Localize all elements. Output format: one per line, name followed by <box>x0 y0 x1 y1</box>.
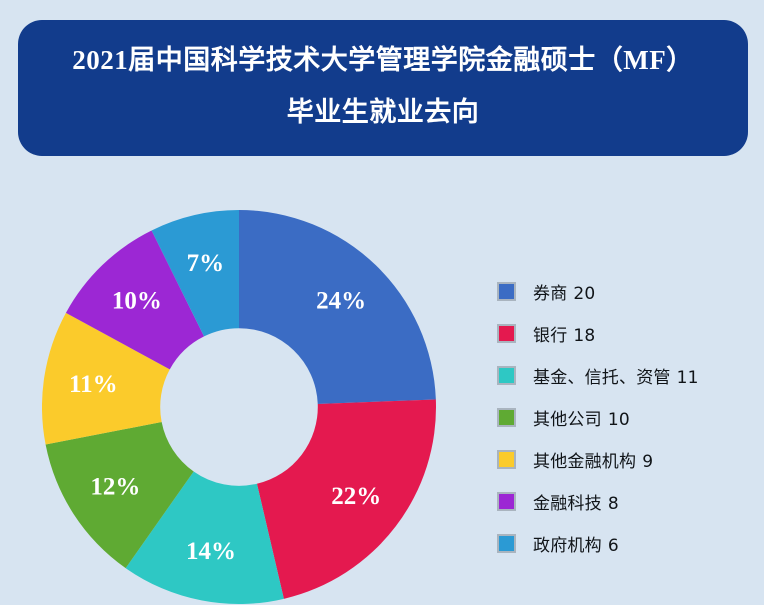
donut-slice-label-2: 22% <box>331 483 381 510</box>
legend-item-6[interactable]: 金融科技8 <box>497 480 752 522</box>
legend-count-4: 10 <box>608 410 630 430</box>
legend-label-1: 券商20 <box>533 279 595 304</box>
legend-item-5[interactable]: 其他金融机构9 <box>497 438 752 480</box>
legend-item-2[interactable]: 银行18 <box>497 312 752 354</box>
legend-item-7[interactable]: 政府机构6 <box>497 522 752 564</box>
legend-item-3[interactable]: 基金、信托、资管11 <box>497 354 752 396</box>
legend-count-2: 18 <box>573 326 595 346</box>
legend-label-3: 基金、信托、资管11 <box>533 363 699 388</box>
chart-legend: 券商20银行18基金、信托、资管11其他公司10其他金融机构9金融科技8政府机构… <box>497 270 752 564</box>
donut-slice-label-4: 12% <box>90 474 140 501</box>
donut-slice-label-3: 14% <box>186 538 236 565</box>
legend-label-text-1: 券商 <box>533 284 567 304</box>
donut-chart: 24%22%14%12%11%10%7% <box>42 210 436 604</box>
legend-swatch-government <box>497 534 516 553</box>
legend-label-text-5: 其他金融机构 <box>533 452 636 472</box>
donut-slice-label-1: 24% <box>316 287 366 314</box>
legend-label-text-3: 基金、信托、资管 <box>533 368 671 388</box>
legend-swatch-fintech <box>497 492 516 511</box>
legend-item-4[interactable]: 其他公司10 <box>497 396 752 438</box>
chart-area: 24%22%14%12%11%10%7% 券商20银行18基金、信托、资管11其… <box>0 160 764 605</box>
legend-count-3: 11 <box>677 368 699 388</box>
legend-swatch-securities <box>497 282 516 301</box>
legend-label-6: 金融科技8 <box>533 489 619 514</box>
legend-swatch-other-companies <box>497 408 516 427</box>
legend-count-1: 20 <box>573 284 595 304</box>
legend-swatch-banks <box>497 324 516 343</box>
title-banner: 2021届中国科学技术大学管理学院金融硕士（MF） 毕业生就业去向 <box>18 20 748 156</box>
legend-swatch-funds <box>497 366 516 385</box>
page-title-line-1: 2021届中国科学技术大学管理学院金融硕士（MF） <box>72 42 693 78</box>
legend-label-text-7: 政府机构 <box>533 536 602 556</box>
donut-slice-label-5: 11% <box>69 371 118 398</box>
donut-slice-label-7: 7% <box>187 250 225 277</box>
legend-label-2: 银行18 <box>533 321 595 346</box>
legend-label-5: 其他金融机构9 <box>533 447 653 472</box>
page-title-line-2: 毕业生就业去向 <box>287 94 480 130</box>
legend-count-7: 6 <box>608 536 619 556</box>
donut-chart-svg: 24%22%14%12%11%10%7% <box>42 210 436 604</box>
legend-label-text-4: 其他公司 <box>533 410 602 430</box>
legend-item-1[interactable]: 券商20 <box>497 270 752 312</box>
legend-swatch-other-financial <box>497 450 516 469</box>
legend-label-text-2: 银行 <box>533 326 567 346</box>
legend-count-6: 8 <box>608 494 619 514</box>
legend-count-5: 9 <box>642 452 653 472</box>
legend-label-4: 其他公司10 <box>533 405 630 430</box>
donut-slice-label-6: 10% <box>112 287 162 314</box>
legend-label-7: 政府机构6 <box>533 531 619 556</box>
donut-slice-group <box>42 210 436 604</box>
legend-label-text-6: 金融科技 <box>533 494 602 514</box>
